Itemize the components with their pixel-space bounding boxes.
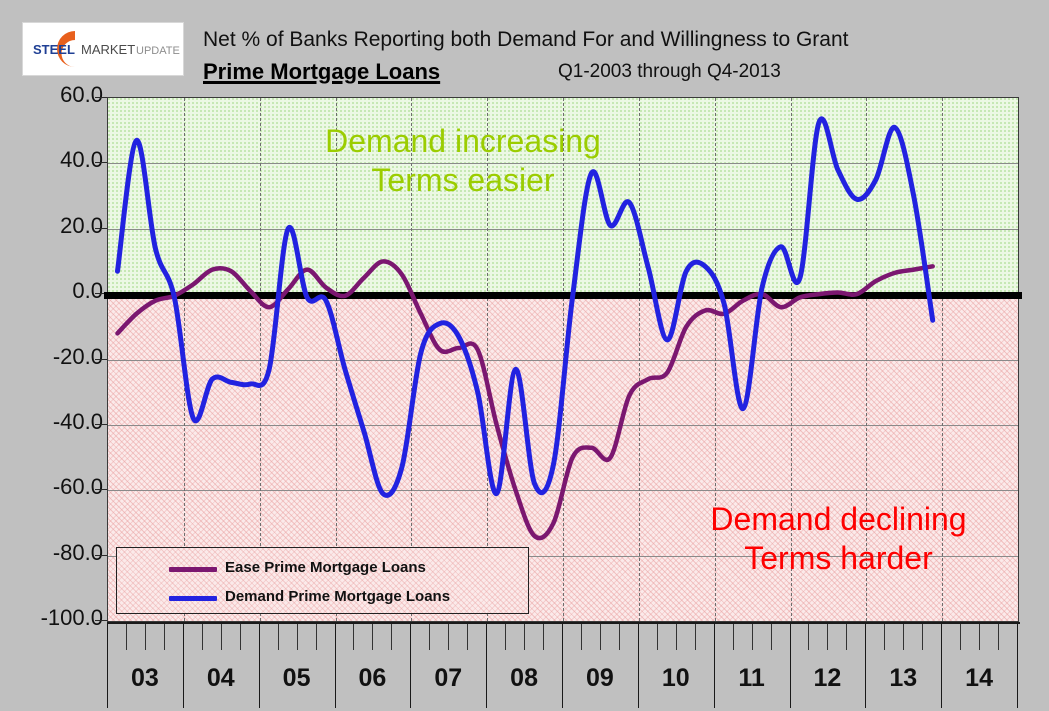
annotation-green-line2: Terms easier — [243, 161, 683, 200]
annotation-demand-increasing: Demand increasing Terms easier — [243, 122, 683, 200]
x-axis-minor-tick — [505, 624, 506, 650]
x-axis-label-06: 06 — [334, 664, 410, 693]
x-axis-major-separator — [1017, 624, 1018, 708]
x-axis-minor-tick — [448, 624, 449, 650]
y-axis-tick — [95, 97, 107, 98]
x-axis-minor-tick — [619, 624, 620, 650]
y-axis-tick — [95, 555, 107, 556]
chart-legend: Ease Prime Mortgage Loans Demand Prime M… — [116, 547, 529, 614]
y-axis-tick — [95, 620, 107, 621]
x-axis-minor-tick — [221, 624, 222, 650]
y-axis-tick — [95, 359, 107, 360]
x-axis-minor-tick — [752, 624, 753, 650]
y-axis: 60.040.020.00.0-20.0-40.0-60.0-80.0-100.… — [0, 0, 103, 711]
x-axis-minor-tick — [657, 624, 658, 650]
x-axis-minor-tick — [979, 624, 980, 650]
x-axis-minor-tick — [297, 624, 298, 650]
x-axis-line — [107, 622, 1020, 624]
y-axis-label: -20.0 — [7, 344, 103, 370]
annotation-demand-declining: Demand declining Terms harder — [666, 500, 1011, 578]
x-axis-minor-tick — [581, 624, 582, 650]
y-axis-label: 20.0 — [7, 213, 103, 239]
x-axis-minor-tick — [960, 624, 961, 650]
x-axis-minor-tick — [467, 624, 468, 650]
x-axis-label-13: 13 — [865, 664, 941, 693]
x-axis-minor-tick — [240, 624, 241, 650]
x-axis-minor-tick — [429, 624, 430, 650]
y-axis-label: -40.0 — [7, 409, 103, 435]
x-axis-label-14: 14 — [941, 664, 1017, 693]
chart-title-line2: Prime Mortgage Loans — [203, 59, 440, 85]
x-axis-label-11: 11 — [714, 664, 790, 693]
x-axis-minor-tick — [164, 624, 165, 650]
y-axis-tick — [95, 228, 107, 229]
chart-date-range: Q1-2003 through Q4-2013 — [558, 61, 781, 83]
x-axis-minor-tick — [524, 624, 525, 650]
y-axis-label: 0.0 — [7, 278, 103, 304]
y-axis-label: -60.0 — [7, 474, 103, 500]
y-axis-tick — [95, 162, 107, 163]
y-axis-tick — [95, 424, 107, 425]
y-axis-label: -80.0 — [7, 540, 103, 566]
logo-word-update: UPDATE — [136, 45, 180, 57]
x-axis: 030405060708091011121314 — [107, 622, 1020, 711]
x-axis-label-09: 09 — [562, 664, 638, 693]
x-axis-minor-tick — [600, 624, 601, 650]
x-axis-minor-tick — [846, 624, 847, 650]
y-axis-label: 60.0 — [7, 82, 103, 108]
x-axis-label-04: 04 — [183, 664, 259, 693]
x-axis-minor-tick — [676, 624, 677, 650]
x-axis-minor-tick — [733, 624, 734, 650]
x-axis-label-12: 12 — [789, 664, 865, 693]
x-axis-minor-tick — [278, 624, 279, 650]
annotation-green-line1: Demand increasing — [243, 122, 683, 161]
x-axis-minor-tick — [353, 624, 354, 650]
chart-title-line1: Net % of Banks Reporting both Demand For… — [203, 28, 848, 52]
x-axis-label-08: 08 — [486, 664, 562, 693]
y-axis-tick — [95, 489, 107, 490]
x-axis-minor-tick — [543, 624, 544, 650]
x-axis-minor-tick — [998, 624, 999, 650]
x-axis-minor-tick — [316, 624, 317, 650]
x-axis-minor-tick — [126, 624, 127, 650]
x-axis-minor-tick — [372, 624, 373, 650]
x-axis-minor-tick — [884, 624, 885, 650]
x-axis-label-03: 03 — [107, 664, 183, 693]
x-axis-minor-tick — [922, 624, 923, 650]
chart-header: STEEL MARKET UPDATE Net % of Banks Repor… — [0, 0, 1049, 95]
x-axis-minor-tick — [808, 624, 809, 650]
y-axis-label: 40.0 — [7, 147, 103, 173]
x-axis-minor-tick — [771, 624, 772, 650]
x-axis-minor-tick — [202, 624, 203, 650]
annotation-red-line2: Terms harder — [666, 539, 1011, 578]
plot-area: Demand increasing Terms easier Demand de… — [107, 97, 1019, 622]
x-axis-minor-tick — [145, 624, 146, 650]
legend-swatch-ease — [169, 567, 217, 572]
legend-label-ease: Ease Prime Mortgage Loans — [225, 559, 426, 576]
x-axis-label-07: 07 — [410, 664, 486, 693]
y-axis-label: -100.0 — [7, 605, 103, 631]
x-axis-minor-tick — [903, 624, 904, 650]
x-axis-label-10: 10 — [638, 664, 714, 693]
x-axis-minor-tick — [695, 624, 696, 650]
x-axis-minor-tick — [827, 624, 828, 650]
x-axis-minor-tick — [391, 624, 392, 650]
legend-swatch-demand — [169, 596, 217, 601]
legend-label-demand: Demand Prime Mortgage Loans — [225, 588, 450, 605]
annotation-red-line1: Demand declining — [666, 500, 1011, 539]
x-axis-label-05: 05 — [259, 664, 335, 693]
